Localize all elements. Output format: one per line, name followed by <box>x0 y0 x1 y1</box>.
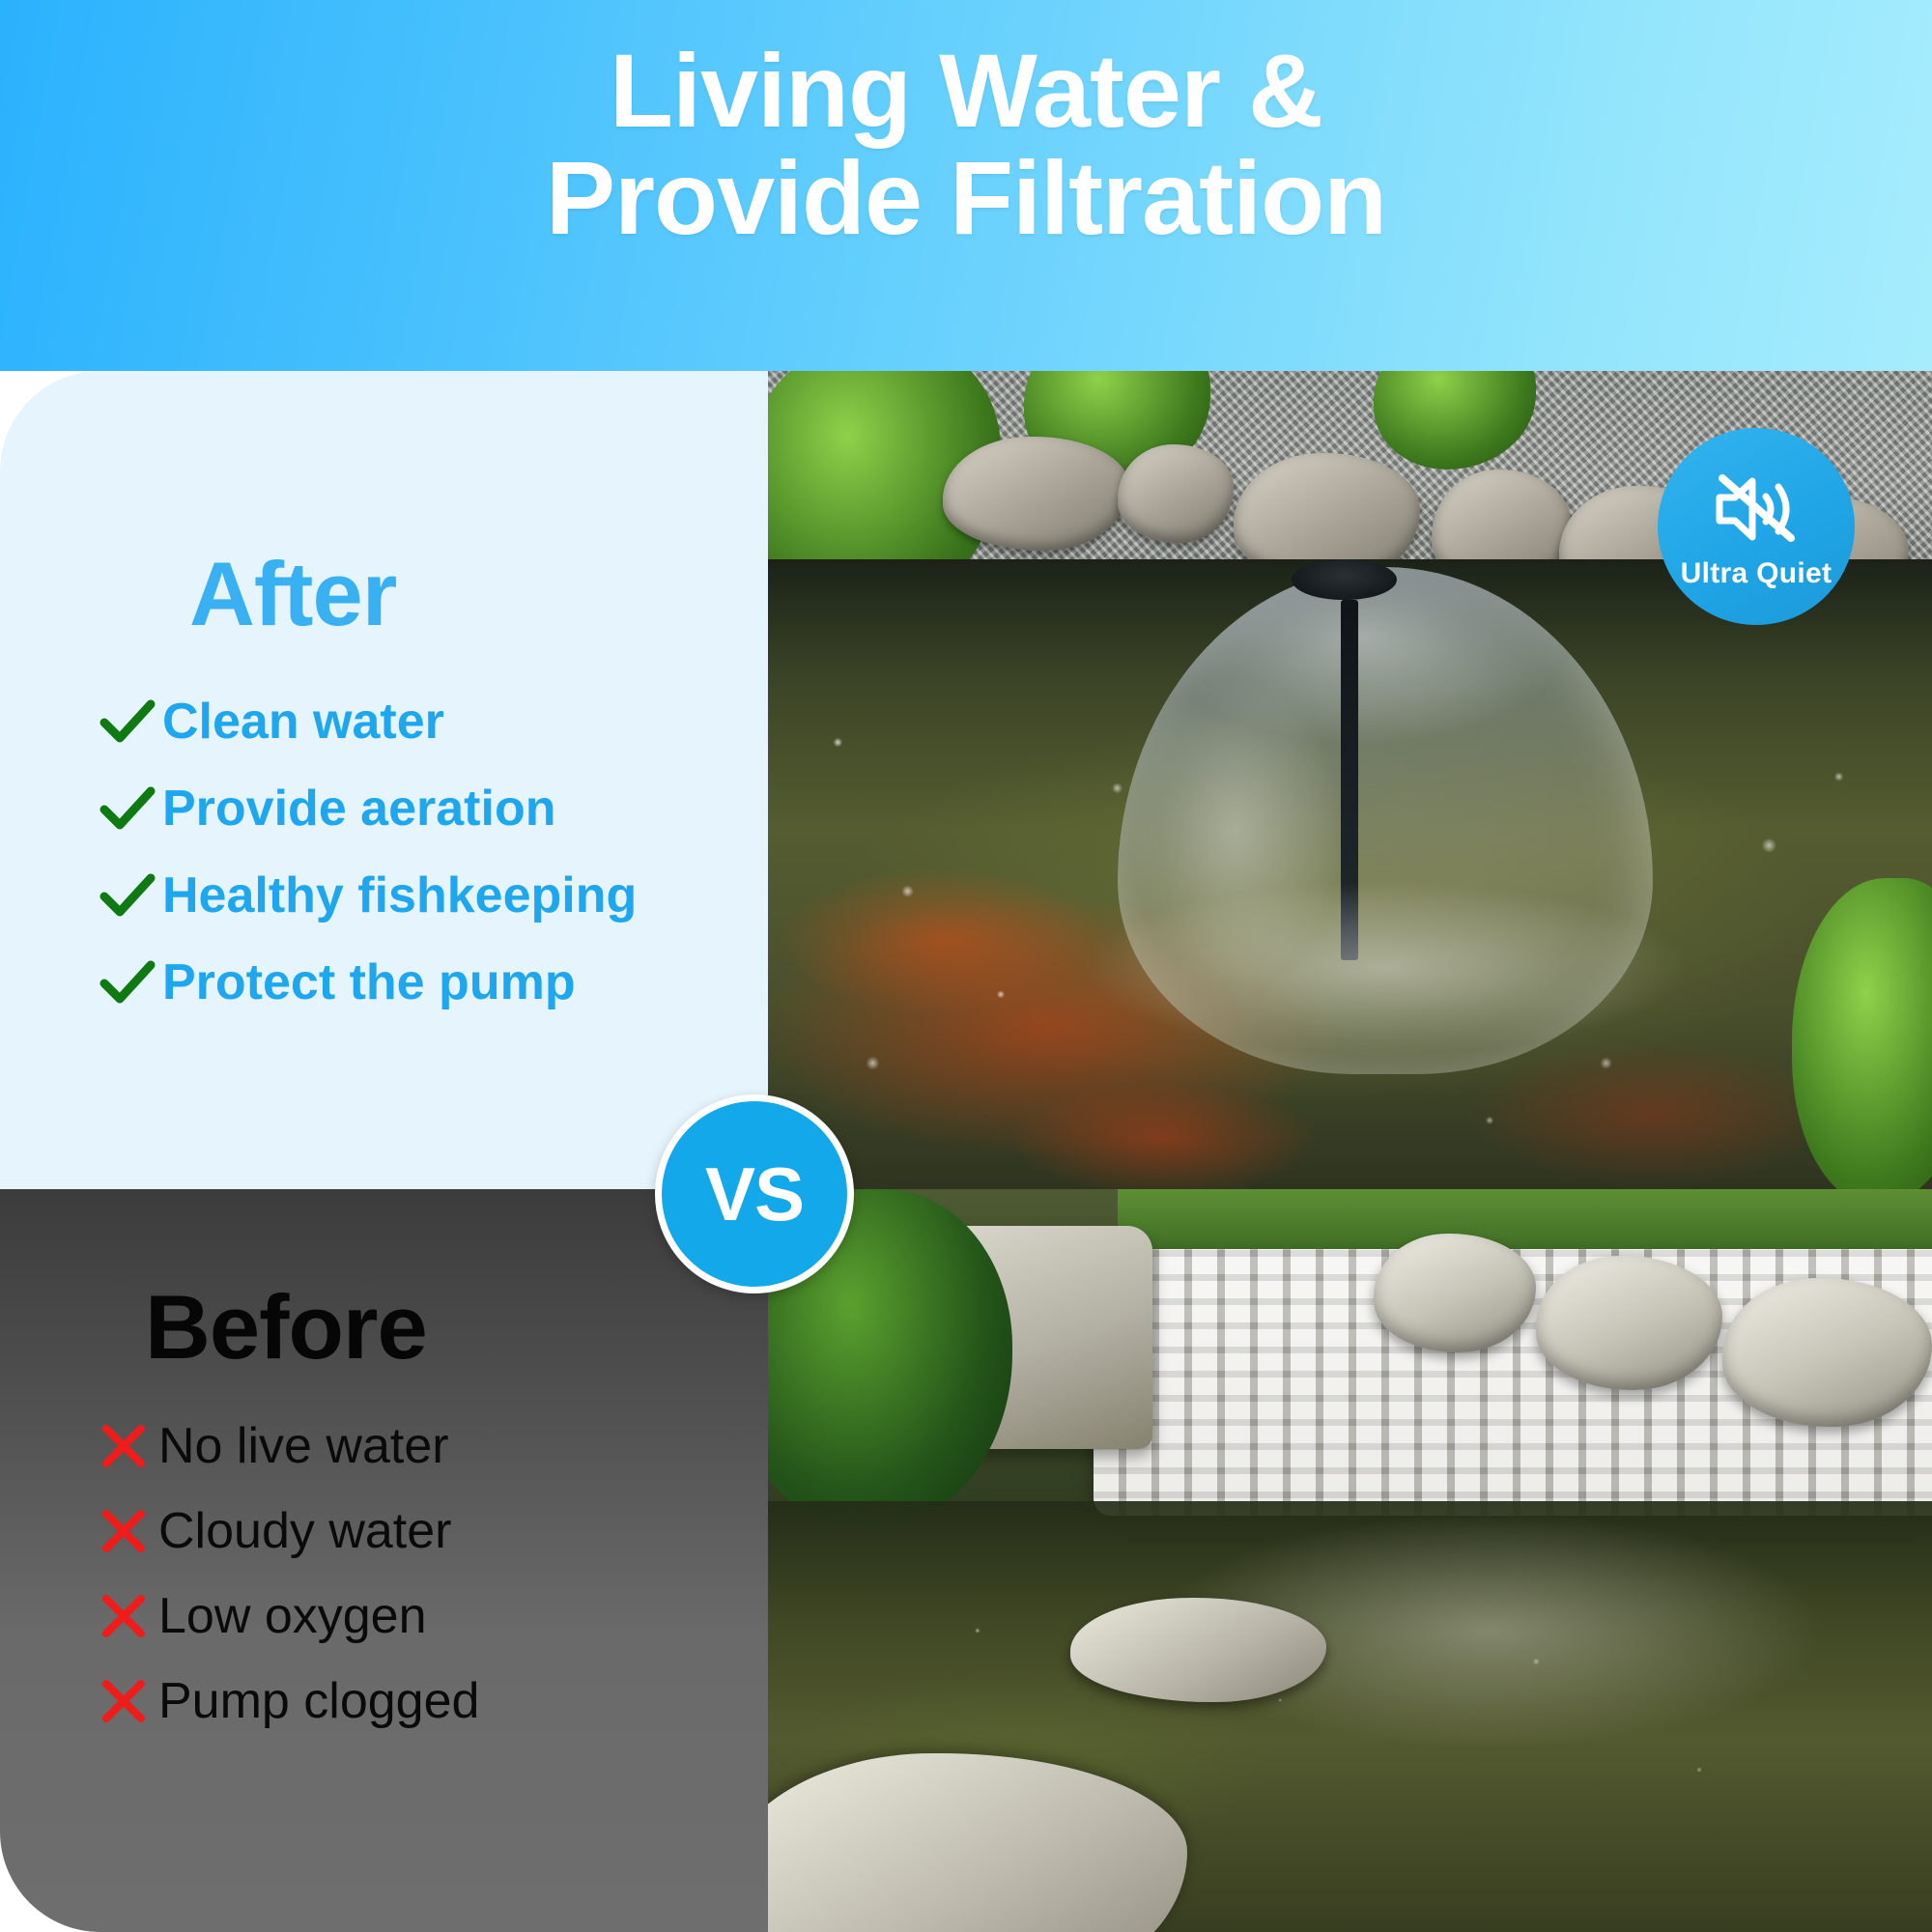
check-icon <box>93 959 162 1006</box>
boulder <box>1722 1278 1932 1427</box>
fountain-nozzle <box>1292 559 1396 600</box>
list-item-label: Provide aeration <box>162 780 555 838</box>
before-problem-list: No live water Cloudy water Low oxygen Pu… <box>89 1404 479 1744</box>
after-benefit-list: Clean water Provide aeration Healthy fis… <box>93 678 637 1026</box>
floating-rock <box>1070 1598 1326 1702</box>
list-item-label: Cloudy water <box>158 1502 451 1560</box>
header-banner: Living Water & Provide Filtration <box>0 0 1932 371</box>
list-item: Pump clogged <box>89 1659 479 1744</box>
cross-icon <box>89 1507 158 1555</box>
cross-icon <box>89 1592 158 1640</box>
vs-label: VS <box>705 1156 804 1232</box>
fountain-splash <box>1070 878 1699 1058</box>
cross-icon <box>89 1422 158 1470</box>
list-item-label: Protect the pump <box>162 953 576 1011</box>
list-item: Provide aeration <box>93 765 637 852</box>
check-icon <box>93 698 162 745</box>
page-title: Living Water & Provide Filtration <box>0 37 1932 251</box>
list-item-label: Clean water <box>162 693 444 751</box>
check-icon <box>93 872 162 919</box>
speaker-muted-icon <box>1710 470 1803 548</box>
list-item: Protect the pump <box>93 939 637 1026</box>
list-item: Low oxygen <box>89 1574 479 1659</box>
cross-icon <box>89 1677 158 1725</box>
list-item-label: Pump clogged <box>158 1672 479 1730</box>
after-title: After <box>189 542 396 646</box>
list-item: Clean water <box>93 678 637 765</box>
ultra-quiet-badge: Ultra Quiet <box>1658 428 1855 625</box>
boulder <box>1374 1234 1537 1352</box>
list-item: Healthy fishkeeping <box>93 852 637 939</box>
list-item-label: Healthy fishkeeping <box>162 867 637 924</box>
list-item-label: No live water <box>158 1417 449 1475</box>
before-photo <box>768 1189 1932 1932</box>
pond-rock <box>1118 444 1235 543</box>
boulder <box>1536 1256 1722 1389</box>
infographic-page: Living Water & Provide Filtration <box>0 0 1932 1932</box>
pond-rock <box>943 437 1129 552</box>
before-title: Before <box>145 1275 427 1379</box>
list-item: Cloudy water <box>89 1489 479 1574</box>
check-icon <box>93 785 162 832</box>
vs-badge: VS <box>655 1094 854 1293</box>
list-item: No live water <box>89 1404 479 1489</box>
list-item-label: Low oxygen <box>158 1587 427 1645</box>
ultra-quiet-label: Ultra Quiet <box>1681 557 1833 590</box>
